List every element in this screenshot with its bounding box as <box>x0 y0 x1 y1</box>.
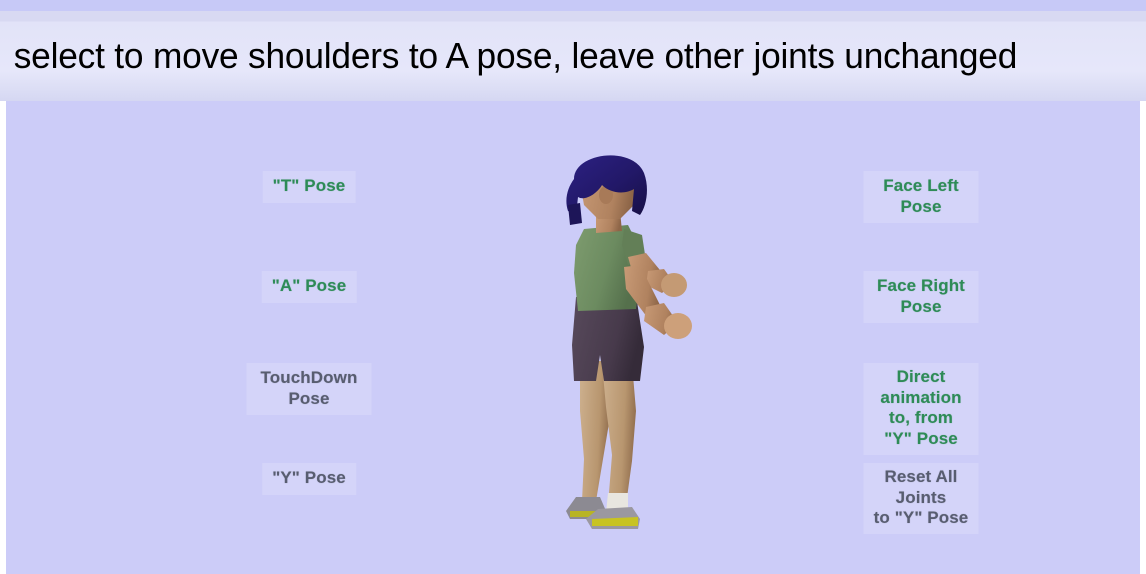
touchdown-pose-button[interactable]: TouchDown Pose <box>247 363 372 415</box>
hair-back <box>568 203 582 225</box>
character-avatar <box>540 149 715 539</box>
front-fist <box>664 313 692 339</box>
face-right-pose-button[interactable]: Face Right Pose <box>864 271 979 323</box>
content-area: "T" Pose "A" Pose TouchDown Pose "Y" Pos… <box>0 101 1146 574</box>
direct-animation-button[interactable]: Direct animation to, from "Y" Pose <box>864 363 979 455</box>
t-pose-button[interactable]: "T" Pose <box>263 171 356 203</box>
right-button-column: Face Left Pose Face Right Pose Direct an… <box>806 101 1036 574</box>
instruction-header: select to move shoulders to A pose, leav… <box>0 11 1146 101</box>
app-root: select to move shoulders to A pose, leav… <box>0 0 1146 574</box>
a-pose-button[interactable]: "A" Pose <box>262 271 357 303</box>
y-pose-button[interactable]: "Y" Pose <box>262 463 356 495</box>
instruction-text: select to move shoulders to A pose, leav… <box>0 38 1017 74</box>
left-button-column: "T" Pose "A" Pose TouchDown Pose "Y" Pos… <box>184 101 434 574</box>
face-left-pose-button[interactable]: Face Left Pose <box>864 171 979 223</box>
pose-viewport: "T" Pose "A" Pose TouchDown Pose "Y" Pos… <box>6 101 1140 574</box>
back-fist <box>661 273 687 297</box>
top-strip <box>0 0 1146 11</box>
reset-all-joints-button[interactable]: Reset All Joints to "Y" Pose <box>864 463 979 534</box>
